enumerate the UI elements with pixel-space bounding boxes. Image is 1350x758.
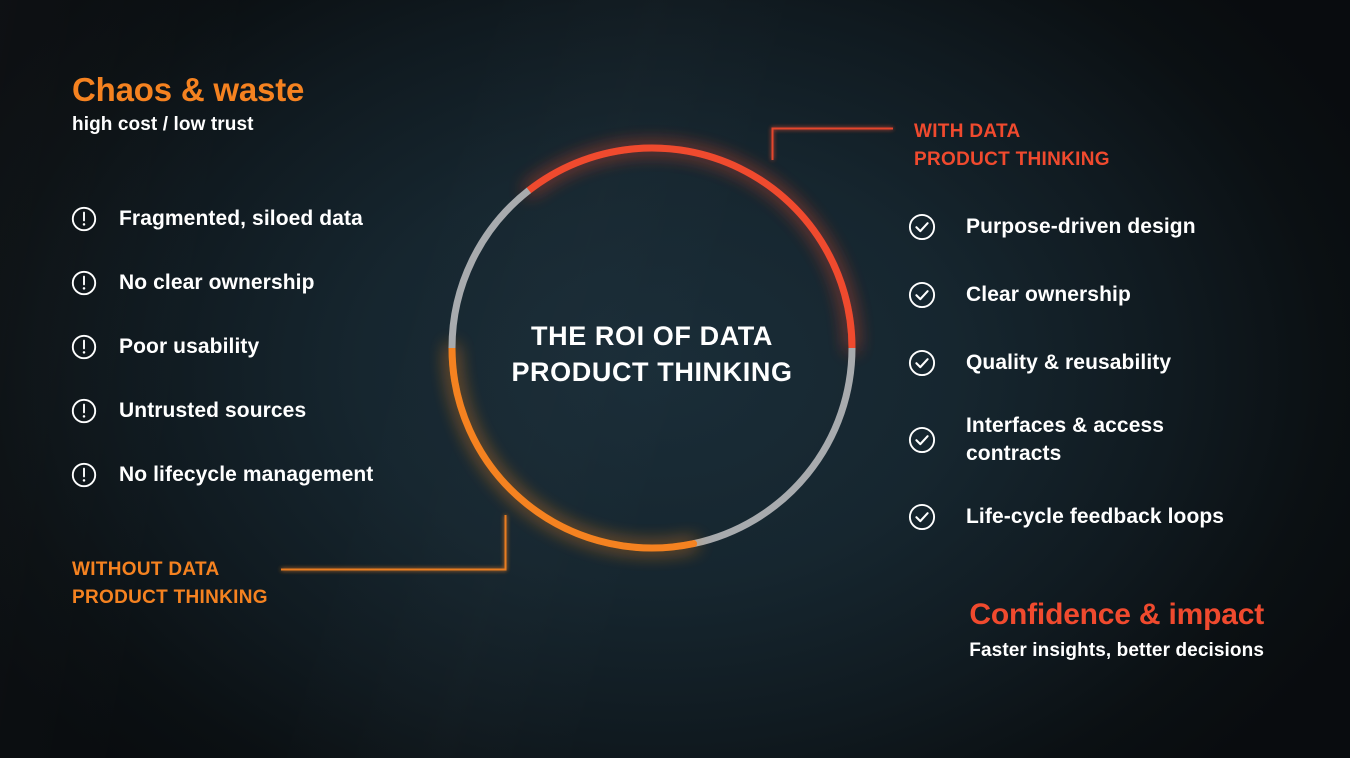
- list-item-label: Clear ownership: [966, 281, 1131, 309]
- check-circle-icon: [908, 213, 936, 241]
- list-item: Purpose-driven design: [908, 206, 1298, 248]
- exclamation-circle-icon: [70, 397, 98, 425]
- check-circle-icon: [908, 426, 936, 454]
- list-item: Fragmented, siloed data: [70, 198, 470, 240]
- connector-without-data: [281, 515, 506, 570]
- list-item: No lifecycle management: [70, 454, 470, 496]
- connector-label-without-data: WITHOUT DATA PRODUCT THINKING: [72, 556, 268, 612]
- list-item-label: Fragmented, siloed data: [119, 205, 363, 233]
- list-item-label: No clear ownership: [119, 269, 315, 297]
- list-item-label: Life-cycle feedback loops: [966, 503, 1224, 531]
- left-list: Fragmented, siloed data No clear ownersh…: [70, 198, 470, 518]
- infographic-canvas: Chaos & waste high cost / low trust Conf…: [0, 0, 1350, 758]
- check-circle-icon: [908, 503, 936, 531]
- exclamation-circle-icon: [70, 269, 98, 297]
- list-item-label: No lifecycle management: [119, 461, 373, 489]
- connector-label-without-line1: WITHOUT DATA: [72, 556, 268, 584]
- list-item-label: Purpose-driven design: [966, 213, 1196, 241]
- connector-label-without-line2: PRODUCT THINKING: [72, 584, 268, 612]
- list-item-label: Untrusted sources: [119, 397, 306, 425]
- right-subheading: Faster insights, better decisions: [969, 640, 1264, 662]
- center-title-line1: THE ROI OF DATA: [452, 318, 852, 354]
- connector-with-data: [773, 129, 894, 161]
- list-item-label: Interfaces & access contracts: [966, 412, 1204, 467]
- center-title-line2: PRODUCT THINKING: [452, 354, 852, 390]
- center-title: THE ROI OF DATA PRODUCT THINKING: [452, 318, 852, 390]
- list-item: Poor usability: [70, 326, 470, 368]
- check-circle-icon: [908, 281, 936, 309]
- connector-label-with-data: WITH DATA PRODUCT THINKING: [914, 118, 1110, 174]
- list-item: Clear ownership: [908, 274, 1298, 316]
- list-item-label: Poor usability: [119, 333, 259, 361]
- exclamation-circle-icon: [70, 205, 98, 233]
- list-item: Interfaces & access contracts: [908, 410, 1298, 470]
- list-item: Untrusted sources: [70, 390, 470, 432]
- left-subheading: high cost / low trust: [72, 114, 254, 136]
- list-item: Quality & reusability: [908, 342, 1298, 384]
- exclamation-circle-icon: [70, 461, 98, 489]
- connector-label-with-line1: WITH DATA: [914, 118, 1110, 146]
- left-heading: Chaos & waste: [72, 72, 304, 108]
- list-item: No clear ownership: [70, 262, 470, 304]
- list-item-label: Quality & reusability: [966, 349, 1171, 377]
- right-heading: Confidence & impact: [969, 598, 1264, 632]
- connector-label-with-line2: PRODUCT THINKING: [914, 146, 1110, 174]
- list-item: Life-cycle feedback loops: [908, 496, 1298, 538]
- right-list: Purpose-driven design Clear ownership Qu…: [908, 206, 1298, 564]
- check-circle-icon: [908, 349, 936, 377]
- exclamation-circle-icon: [70, 333, 98, 361]
